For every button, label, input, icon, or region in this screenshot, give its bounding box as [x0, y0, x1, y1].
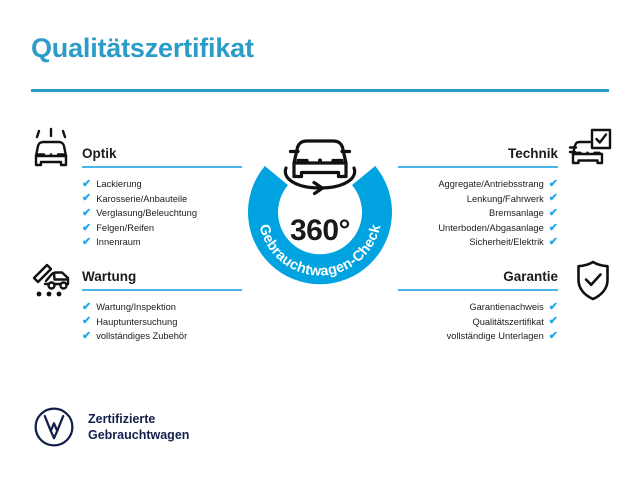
list-item-label: Felgen/Reifen: [96, 221, 154, 236]
section-garantie-divider: [398, 289, 558, 291]
section-wartung: Wartung ✔ Wartung/Inspektion ✔ Hauptunte…: [82, 268, 242, 344]
section-optik-list: ✔ Lackierung ✔ Karosserie/Anbauteile ✔ V…: [82, 177, 242, 250]
section-technik-list: Aggregate/Antriebsstrang ✔ Lenkung/Fahrw…: [398, 177, 558, 250]
check-icon: ✔: [82, 316, 91, 327]
check-icon: ✔: [549, 223, 558, 234]
title-divider: [31, 89, 609, 92]
vw-logo-icon: [33, 406, 75, 448]
list-item-label: Karosserie/Anbauteile: [96, 192, 187, 207]
section-garantie-list: Garantienachweis ✔ Qualitätszertifikat ✔…: [398, 300, 558, 344]
list-item: vollständige Unterlagen ✔: [398, 329, 558, 344]
list-item-label: Verglasung/Beleuchtung: [96, 206, 197, 221]
list-item-label: Sicherheit/Elektrik: [469, 235, 543, 250]
list-item: Garantienachweis ✔: [398, 300, 558, 315]
check-icon: ✔: [82, 237, 91, 248]
list-item: Aggregate/Antriebsstrang ✔: [398, 177, 558, 192]
list-item: ✔ vollständiges Zubehör: [82, 329, 242, 344]
list-item-label: Hauptuntersuchung: [96, 315, 177, 330]
car-service-wrench-icon: [27, 256, 75, 304]
list-item-label: Lackierung: [96, 177, 141, 192]
list-item-label: Lenkung/Fahrwerk: [467, 192, 544, 207]
list-item: ✔ Hauptuntersuchung: [82, 315, 242, 330]
list-item: ✔ Felgen/Reifen: [82, 221, 242, 236]
section-optik: Optik ✔ Lackierung ✔ Karosserie/Anbautei…: [82, 145, 242, 250]
section-garantie-heading: Garantie: [398, 268, 558, 289]
check-icon: ✔: [82, 223, 91, 234]
section-wartung-heading: Wartung: [82, 268, 242, 289]
section-garantie: Garantie Garantienachweis ✔ Qualitätszer…: [398, 268, 558, 344]
check-icon: ✔: [82, 179, 91, 190]
check-icon: ✔: [82, 331, 91, 342]
check-icon: ✔: [549, 302, 558, 313]
section-wartung-list: ✔ Wartung/Inspektion ✔ Hauptuntersuchung…: [82, 300, 242, 344]
section-optik-divider: [82, 166, 242, 168]
list-item: Qualitätszertifikat ✔: [398, 315, 558, 330]
qualitaetszertifikat-page: Qualitätszertifikat: [0, 0, 640, 480]
list-item: Sicherheit/Elektrik ✔: [398, 235, 558, 250]
check-icon: ✔: [549, 208, 558, 219]
footer-brand-text: Zertifizierte Gebrauchtwagen: [88, 411, 189, 443]
section-technik-divider: [398, 166, 558, 168]
check-icon: ✔: [549, 316, 558, 327]
badge-360-gebrauchtwagen-check: Gebrauchtwagen-Check 360°: [228, 122, 412, 306]
list-item: ✔ Innenraum: [82, 235, 242, 250]
section-technik-heading: Technik: [398, 145, 558, 166]
footer-line-2: Gebrauchtwagen: [88, 427, 189, 443]
list-item: Unterboden/Abgasanlage ✔: [398, 221, 558, 236]
list-item: Bremsanlage ✔: [398, 206, 558, 221]
list-item: Lenkung/Fahrwerk ✔: [398, 192, 558, 207]
section-wartung-divider: [82, 289, 242, 291]
list-item-label: vollständiges Zubehör: [96, 329, 187, 344]
check-icon: ✔: [549, 331, 558, 342]
footer-brand: Zertifizierte Gebrauchtwagen: [33, 406, 189, 448]
list-item: ✔ Karosserie/Anbauteile: [82, 192, 242, 207]
footer-line-1: Zertifizierte: [88, 411, 189, 427]
list-item-label: Aggregate/Antriebsstrang: [438, 177, 543, 192]
check-icon: ✔: [549, 237, 558, 248]
check-icon: ✔: [82, 208, 91, 219]
list-item-label: Unterboden/Abgasanlage: [438, 221, 543, 236]
list-item-label: Qualitätszertifikat: [472, 315, 543, 330]
list-item: ✔ Lackierung: [82, 177, 242, 192]
list-item-label: vollständige Unterlagen: [447, 329, 544, 344]
list-item-label: Bremsanlage: [489, 206, 544, 221]
badge-number: 360°: [228, 214, 412, 248]
list-item-label: Garantienachweis: [469, 300, 543, 315]
list-item-label: Wartung/Inspektion: [96, 300, 176, 315]
check-icon: ✔: [549, 193, 558, 204]
list-item: ✔ Verglasung/Beleuchtung: [82, 206, 242, 221]
check-icon: ✔: [82, 193, 91, 204]
check-icon: ✔: [82, 302, 91, 313]
list-item: ✔ Wartung/Inspektion: [82, 300, 242, 315]
section-optik-heading: Optik: [82, 145, 242, 166]
car-shine-icon: [27, 126, 75, 174]
section-technik: Technik Aggregate/Antriebsstrang ✔ Lenku…: [398, 145, 558, 250]
list-item-label: Innenraum: [96, 235, 140, 250]
check-icon: ✔: [549, 179, 558, 190]
car-checkbox-icon: [566, 126, 614, 174]
shield-check-icon: [569, 256, 617, 304]
page-title: Qualitätszertifikat: [31, 33, 254, 64]
